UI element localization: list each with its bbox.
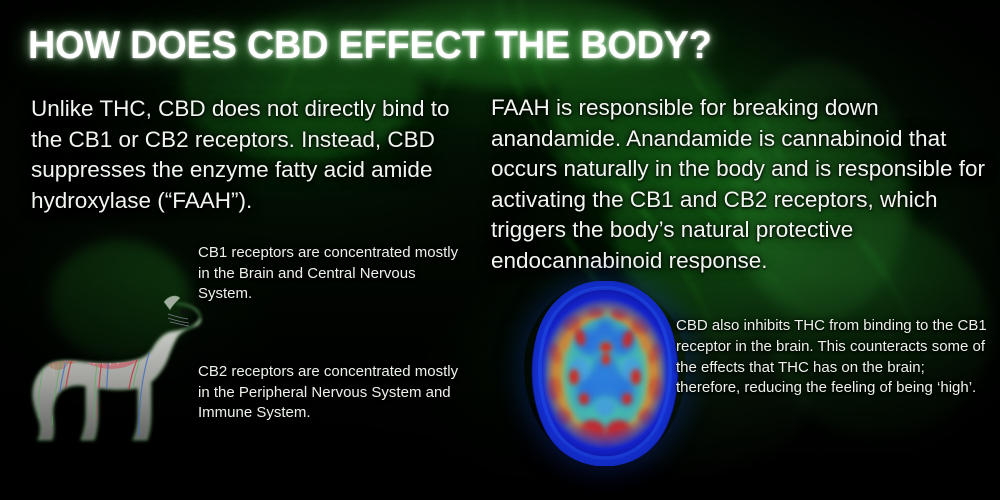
dog-anatomy-illustration <box>8 288 204 444</box>
left-column-paragraph: Unlike THC, CBD does not directly bind t… <box>31 94 451 216</box>
page-title: HOW DOES CBD EFFECT THE BODY? <box>28 26 712 67</box>
brain-scan-image <box>524 281 686 466</box>
cb1-receptor-note: CB1 receptors are concentrated mostly in… <box>198 243 460 305</box>
infographic-canvas: HOW DOES CBD EFFECT THE BODY? Unlike THC… <box>0 0 1000 500</box>
right-column-paragraph: FAAH is responsible for breaking down an… <box>491 93 991 276</box>
thc-inhibition-note: CBD also inhibits THC from binding to th… <box>676 316 991 399</box>
cb2-receptor-note: CB2 receptors are concentrated mostly in… <box>198 362 468 424</box>
pet-brain-scan <box>524 281 686 466</box>
